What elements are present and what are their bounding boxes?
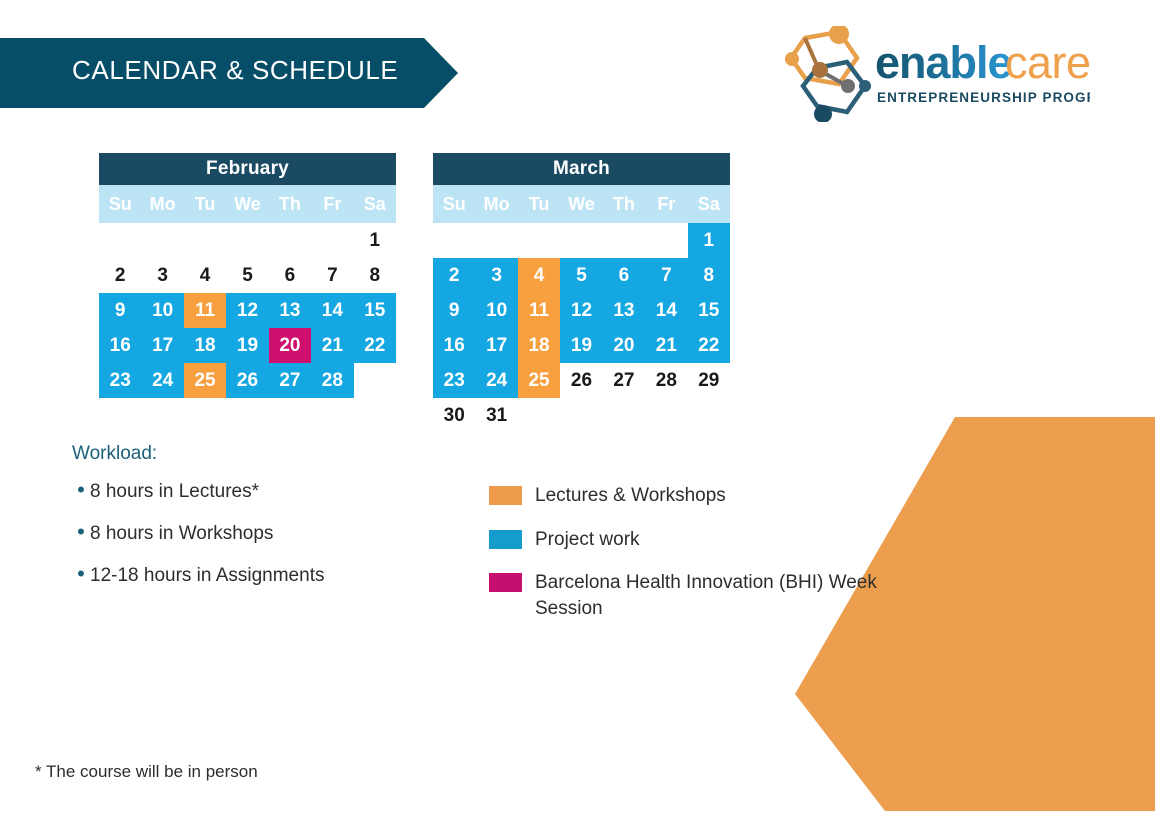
workload-title: Workload: [72,443,472,465]
workload-item-label: 8 hours in Workshops [90,523,273,545]
calendar-day-cell[interactable]: 22 [354,328,396,363]
calendar-day-cell[interactable]: 29 [688,363,730,398]
calendar-day-cell[interactable]: 8 [688,258,730,293]
calendar-weekday-we: We [560,185,602,223]
calendar-month-title: March [433,153,730,185]
calendar-empty-cell [645,223,687,258]
calendar-empty-cell [645,398,687,433]
calendar-empty-cell [99,223,141,258]
calendar-day-cell[interactable]: 7 [645,258,687,293]
calendar-weekday-su: Su [99,185,141,223]
calendar-weekday-mo: Mo [141,185,183,223]
logo-word-enable: enable [875,38,1012,88]
calendar-weekday-sa: Sa [354,185,396,223]
calendar-day-cell[interactable]: 14 [645,293,687,328]
calendar-day-cell[interactable]: 16 [433,328,475,363]
calendar-day-cell[interactable]: 2 [99,258,141,293]
calendar-weekday-tu: Tu [184,185,226,223]
calendar-empty-cell [475,223,517,258]
calendar-weekday-sa: Sa [688,185,730,223]
calendar-day-cell[interactable]: 11 [518,293,560,328]
calendar-day-cell[interactable]: 13 [269,293,311,328]
calendar-weekday-fr: Fr [645,185,687,223]
calendar-day-cell[interactable]: 22 [688,328,730,363]
calendar-day-cell[interactable]: 12 [560,293,602,328]
calendar-empty-cell [518,398,560,433]
legend-color-swatch [489,486,522,505]
calendar-day-cell[interactable]: 27 [603,363,645,398]
calendar-day-cell[interactable]: 31 [475,398,517,433]
calendar-empty-cell [141,223,183,258]
calendar-day-cell[interactable]: 26 [560,363,602,398]
calendar-day-cell[interactable]: 25 [184,363,226,398]
workload-item: •12-18 hours in Assignments [72,563,472,587]
legend-item-label: Project work [535,527,640,553]
calendar-day-cell[interactable]: 25 [518,363,560,398]
logo-tagline: ENTREPRENEURSHIP PROGRAMME [877,90,1090,105]
calendar-day-cell[interactable]: 1 [688,223,730,258]
calendar-day-cell[interactable]: 3 [141,258,183,293]
calendar-empty-cell [226,223,268,258]
workload-item-label: 12-18 hours in Assignments [90,565,324,587]
bullet-icon: • [72,563,90,585]
calendar-empty-cell [688,398,730,433]
calendar-day-cell[interactable]: 19 [226,328,268,363]
calendar-day-cell[interactable]: 28 [311,363,353,398]
calendar-day-cell[interactable]: 1 [354,223,396,258]
calendar-day-cell[interactable]: 7 [311,258,353,293]
calendar-day-cell[interactable]: 10 [475,293,517,328]
calendar-weekday-th: Th [269,185,311,223]
calendar-legend: Lectures & WorkshopsProject workBarcelon… [489,483,889,640]
calendar-day-cell[interactable]: 27 [269,363,311,398]
calendar-day-cell[interactable]: 15 [688,293,730,328]
page-title: CALENDAR & SCHEDULE [72,55,398,86]
calendar-empty-cell [354,363,396,398]
calendar-day-cell[interactable]: 30 [433,398,475,433]
calendar-day-cell[interactable]: 3 [475,258,517,293]
calendar-day-cell[interactable]: 24 [141,363,183,398]
legend-item-label: Lectures & Workshops [535,483,726,509]
calendar-empty-cell [184,223,226,258]
calendar-day-cell[interactable]: 6 [269,258,311,293]
calendar-day-cell[interactable]: 10 [141,293,183,328]
calendar-day-cell[interactable]: 28 [645,363,687,398]
calendar-day-cell[interactable]: 23 [99,363,141,398]
legend-item: Project work [489,527,889,553]
legend-color-swatch [489,573,522,592]
calendar-empty-cell [603,398,645,433]
calendar-day-cell[interactable]: 15 [354,293,396,328]
calendar-day-cell[interactable]: 9 [433,293,475,328]
legend-item: Barcelona Health Innovation (BHI) Week S… [489,570,889,621]
calendar-day-cell[interactable]: 17 [475,328,517,363]
legend-item: Lectures & Workshops [489,483,889,509]
logo-wordmark: enable cares ENTREPRENEURSHIP PROGRAMME [875,38,1090,110]
calendar-day-cell[interactable]: 14 [311,293,353,328]
calendar-day-cell[interactable]: 21 [645,328,687,363]
calendar-weekday-fr: Fr [311,185,353,223]
calendar-empty-cell [269,223,311,258]
calendar-empty-cell [603,223,645,258]
workload-item: •8 hours in Lectures* [72,479,472,503]
bullet-icon: • [72,479,90,501]
calendar-day-cell[interactable]: 20 [269,328,311,363]
workload-section: Workload: •8 hours in Lectures*•8 hours … [72,443,472,605]
calendar-day-cell[interactable]: 20 [603,328,645,363]
calendar-day-grid: 1234567891011121314151617181920212223242… [433,223,730,433]
calendar-weekday-we: We [226,185,268,223]
calendar-weekday-th: Th [603,185,645,223]
hexagon-network-icon [783,26,873,122]
calendar-weekday-tu: Tu [518,185,560,223]
logo-word-cares: cares [1005,38,1090,88]
calendar-march: March SuMoTuWeThFrSa 1234567891011121314… [433,153,730,433]
calendar-day-cell[interactable]: 6 [603,258,645,293]
calendar-weekday-mo: Mo [475,185,517,223]
calendar-day-cell[interactable]: 21 [311,328,353,363]
workload-item: •8 hours in Workshops [72,521,472,545]
footnote-text: * The course will be in person [35,762,258,782]
calendar-empty-cell [518,223,560,258]
calendar-day-cell[interactable]: 23 [433,363,475,398]
calendar-day-cell[interactable]: 2 [433,258,475,293]
calendar-february: February SuMoTuWeThFrSa 1234567891011121… [99,153,396,398]
bullet-icon: • [72,521,90,543]
calendar-day-cell[interactable]: 4 [518,258,560,293]
calendar-day-cell[interactable]: 4 [184,258,226,293]
brand-logo: enable cares ENTREPRENEURSHIP PROGRAMME [783,26,1088,122]
calendar-weekday-header: SuMoTuWeThFrSa [99,185,396,223]
calendar-day-cell[interactable]: 18 [184,328,226,363]
calendar-day-grid: 1234567891011121314151617181920212223242… [99,223,396,398]
calendar-day-cell[interactable]: 12 [226,293,268,328]
calendar-day-cell[interactable]: 13 [603,293,645,328]
calendar-empty-cell [311,223,353,258]
legend-color-swatch [489,530,522,549]
calendar-month-title: February [99,153,396,185]
calendar-day-cell[interactable]: 8 [354,258,396,293]
calendar-day-cell[interactable]: 18 [518,328,560,363]
calendar-day-cell[interactable]: 5 [226,258,268,293]
calendar-weekday-header: SuMoTuWeThFrSa [433,185,730,223]
calendar-day-cell[interactable]: 9 [99,293,141,328]
calendar-weekday-su: Su [433,185,475,223]
calendar-day-cell[interactable]: 24 [475,363,517,398]
calendar-day-cell[interactable]: 19 [560,328,602,363]
calendar-empty-cell [433,223,475,258]
calendar-day-cell[interactable]: 5 [560,258,602,293]
calendar-day-cell[interactable]: 26 [226,363,268,398]
legend-item-label: Barcelona Health Innovation (BHI) Week S… [535,570,889,621]
calendar-day-cell[interactable]: 11 [184,293,226,328]
calendar-day-cell[interactable]: 17 [141,328,183,363]
workload-item-label: 8 hours in Lectures* [90,481,259,503]
calendar-empty-cell [560,398,602,433]
calendar-empty-cell [560,223,602,258]
calendar-day-cell[interactable]: 16 [99,328,141,363]
workload-list: •8 hours in Lectures*•8 hours in Worksho… [72,479,472,587]
